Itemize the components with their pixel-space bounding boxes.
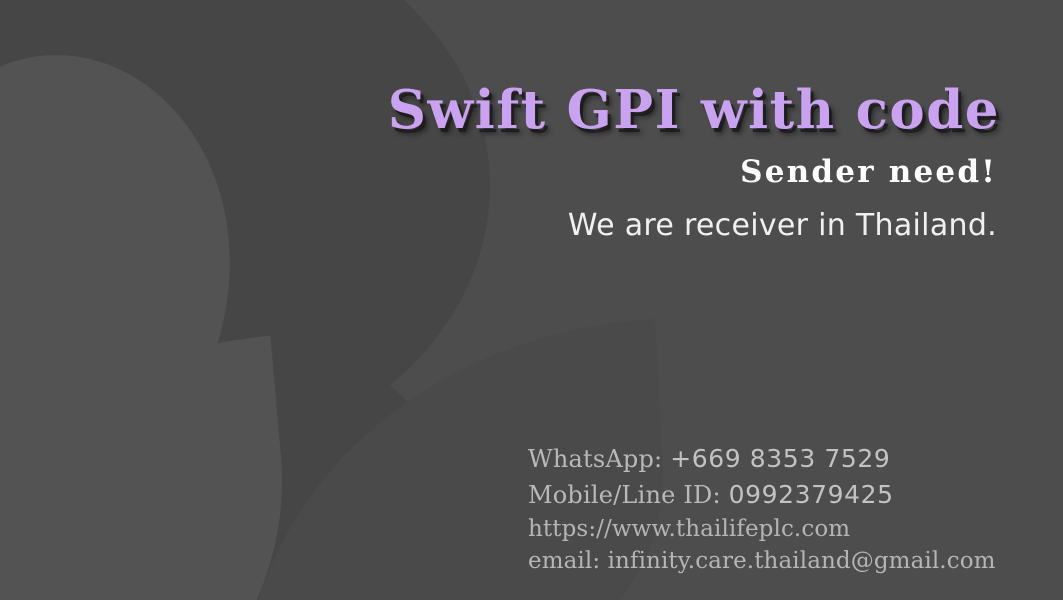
- banner-canvas: Swift GPI with code Sender need! We are …: [0, 0, 1063, 600]
- contact-mobile-label: Mobile/Line ID:: [528, 481, 721, 509]
- banner-content: Swift GPI with code Sender need! We are …: [0, 0, 1063, 600]
- contact-mobile-value[interactable]: 0992379425: [729, 480, 894, 509]
- contact-website-link[interactable]: https://www.thailifeplc.com: [528, 513, 996, 545]
- contact-whatsapp-line: WhatsApp: +669 8353 7529: [528, 441, 996, 477]
- contact-mobile-line: Mobile/Line ID: 0992379425: [528, 477, 996, 513]
- subheadline: Sender need!: [0, 157, 997, 188]
- contact-whatsapp-value[interactable]: +669 8353 7529: [670, 444, 890, 473]
- contact-block: WhatsApp: +669 8353 7529 Mobile/Line ID:…: [528, 441, 996, 577]
- headline: Swift GPI with code: [0, 84, 1000, 137]
- tagline: We are receiver in Thailand.: [0, 209, 997, 242]
- contact-whatsapp-label: WhatsApp:: [528, 445, 662, 473]
- contact-email-line[interactable]: email: infinity.care.thailand@gmail.com: [528, 545, 996, 577]
